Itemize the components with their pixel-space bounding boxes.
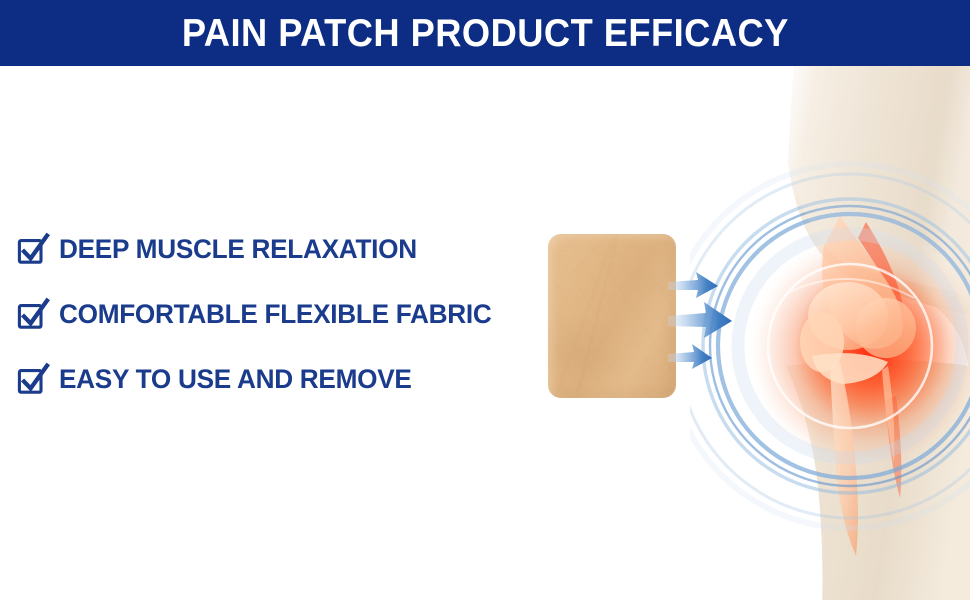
feature-list: DEEP MUSCLE RELAXATION COMFORTABLE FLEXI… bbox=[16, 228, 576, 400]
feature-label: COMFORTABLE FLEXIBLE FABRIC bbox=[59, 301, 492, 328]
checkbox-checked-icon bbox=[16, 232, 50, 266]
page-title: PAIN PATCH PRODUCT EFFICACY bbox=[181, 14, 788, 53]
penetration-arrows bbox=[668, 268, 740, 376]
pain-patch-infographic: PAIN PATCH PRODUCT EFFICACY bbox=[0, 0, 970, 600]
list-item: COMFORTABLE FLEXIBLE FABRIC bbox=[16, 293, 576, 335]
feature-label: EASY TO USE AND REMOVE bbox=[59, 366, 412, 393]
arrow-top bbox=[668, 272, 718, 298]
checkbox-checked-icon bbox=[16, 362, 50, 396]
arrow-bottom bbox=[668, 344, 712, 369]
list-item: EASY TO USE AND REMOVE bbox=[16, 358, 576, 400]
list-item: DEEP MUSCLE RELAXATION bbox=[16, 228, 576, 270]
checkbox-checked-icon bbox=[16, 297, 50, 331]
header-banner: PAIN PATCH PRODUCT EFFICACY bbox=[0, 0, 970, 66]
arrow-middle bbox=[668, 302, 732, 338]
feature-label: DEEP MUSCLE RELAXATION bbox=[59, 236, 417, 263]
